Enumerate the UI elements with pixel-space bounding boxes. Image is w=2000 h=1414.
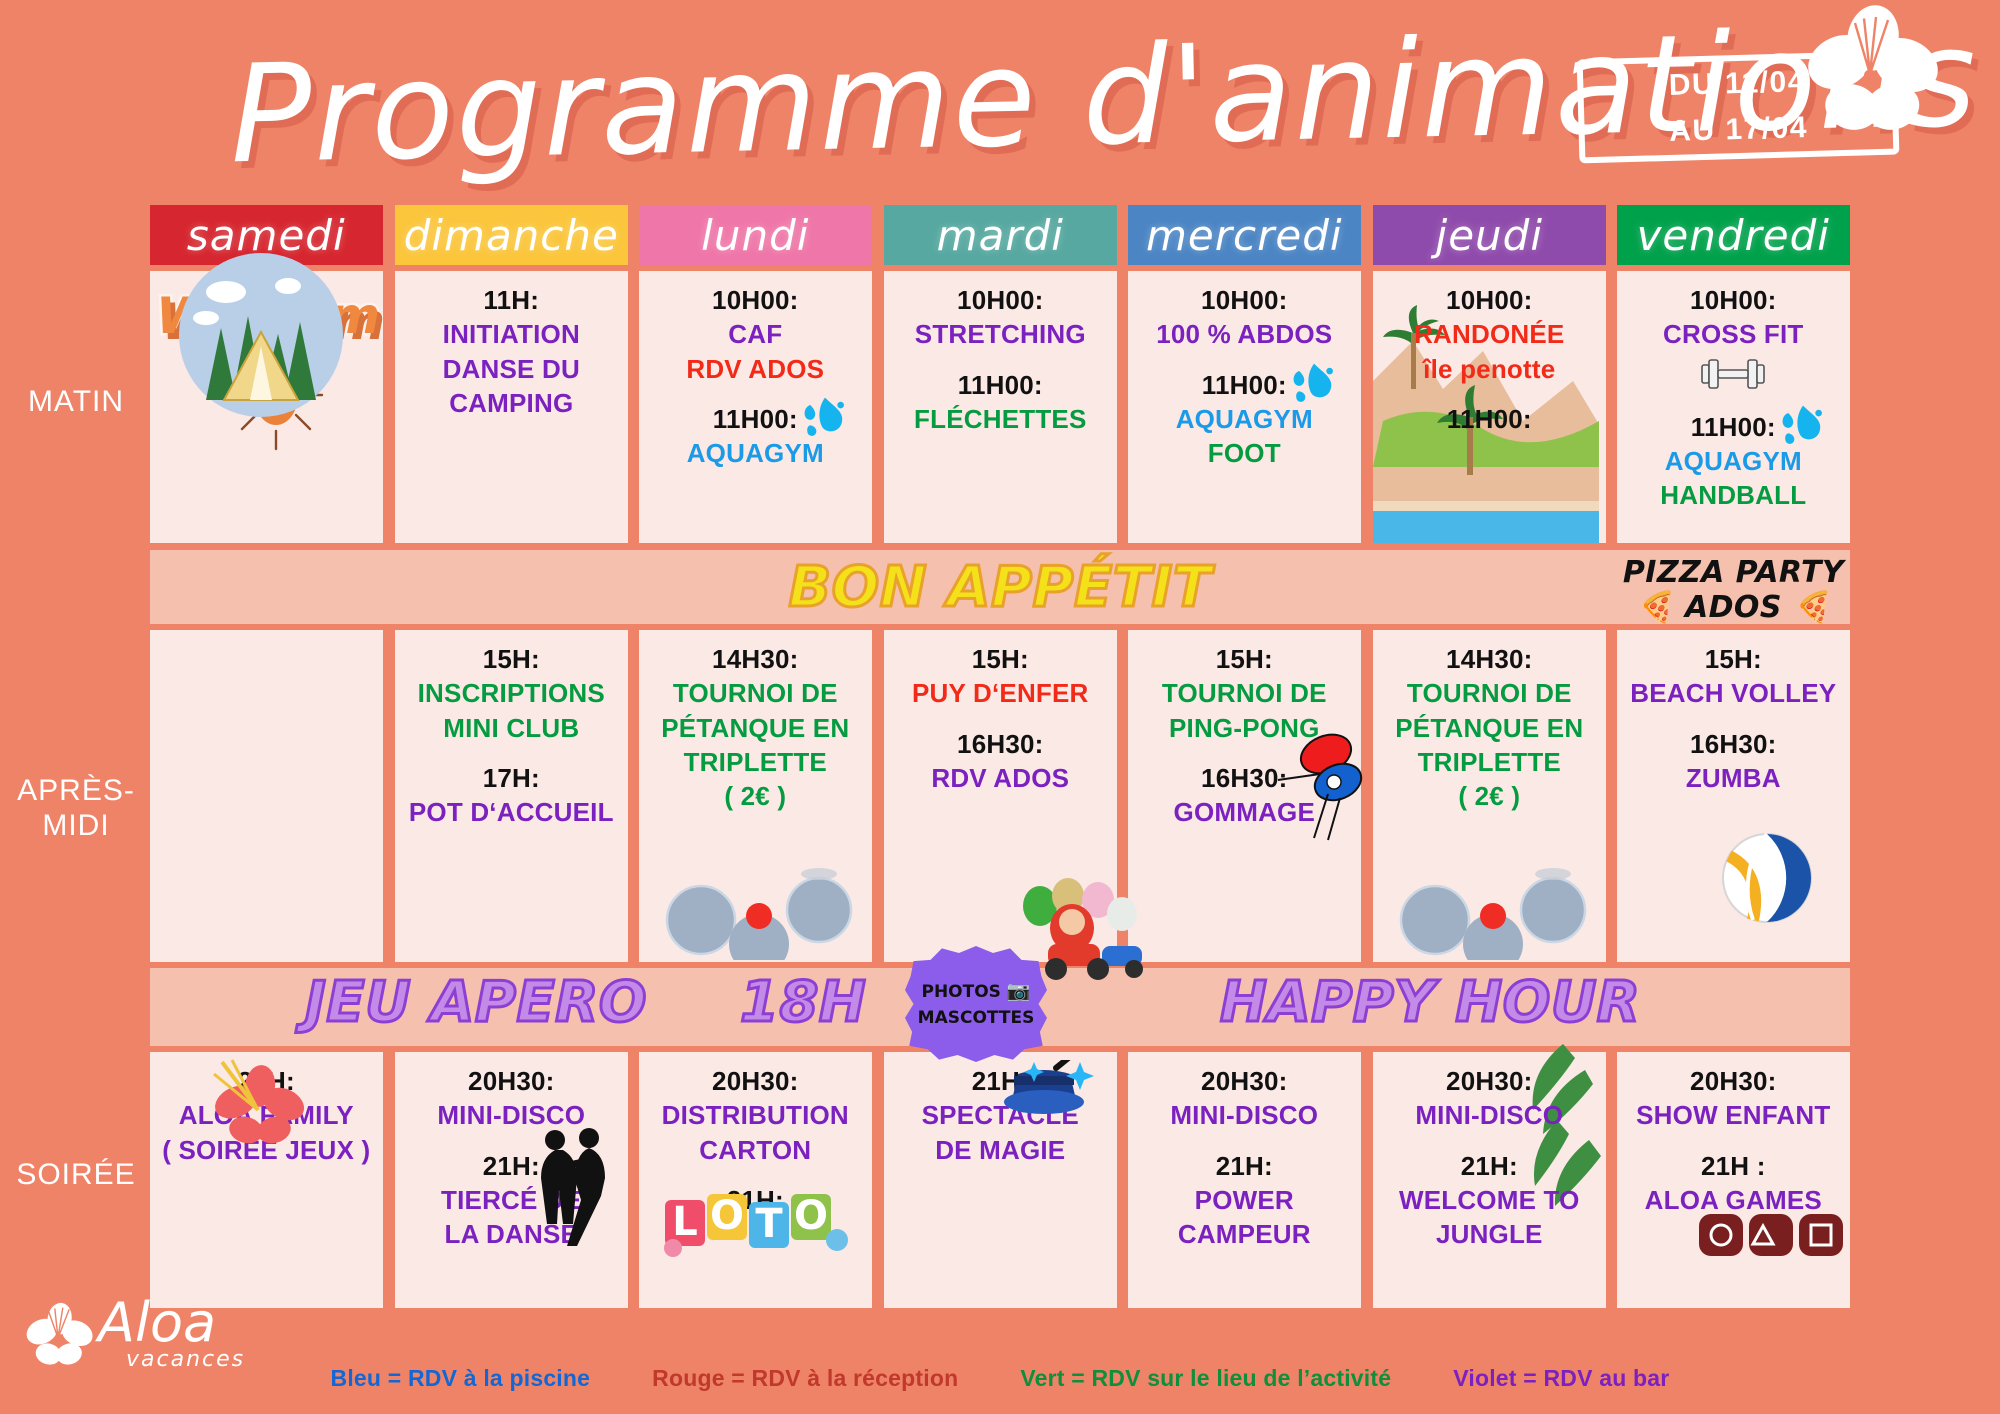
- activity-label: FOOT: [1134, 436, 1355, 470]
- activity-time: 21H:: [156, 1064, 377, 1098]
- afternoon-cell-lundi: 14H30:TOURNOI DEPÉTANQUE ENTRIPLETTE( 2€…: [639, 630, 872, 962]
- cell-content: 15H:INSCRIPTIONSMINI CLUB17H:POT D‘ACCUE…: [395, 630, 628, 836]
- legend: Bleu = RDV à la piscineRouge = RDV à la …: [0, 1365, 2000, 1392]
- activity-label: JUNGLE: [1379, 1217, 1600, 1251]
- activity-label: RANDONÉE: [1379, 317, 1600, 351]
- hibiscus-logo-icon: [18, 1293, 98, 1383]
- schedule-grid: samedidimanchelundimardimercredijeudiven…: [150, 205, 1850, 1350]
- activity-time: 10H00:: [1623, 283, 1844, 317]
- row-label-afternoon: APRÈS-MIDI: [2, 774, 150, 843]
- cell-content: 10H00:100 % ABDOS11H00:AQUAGYMFOOT: [1128, 271, 1361, 477]
- activity-label: CARTON: [645, 1133, 866, 1167]
- water-splash-icon: [1775, 402, 1831, 448]
- morning-cell-dimanche: 11H:INITIATIONDANSE DUCAMPING: [395, 271, 628, 543]
- activity-label: TOURNOI DE: [645, 676, 866, 710]
- day-header-jeudi: jeudi: [1373, 205, 1606, 265]
- activity-label: 100 % ABDOS: [1134, 317, 1355, 351]
- evening-cell-mercredi: 20H30:MINI-DISCO21H:POWERCAMPEUR: [1128, 1052, 1361, 1308]
- activity-time: 10H00:: [645, 283, 866, 317]
- activity-label: SHOW ENFANT: [1623, 1098, 1844, 1132]
- activity-label: PUY D‘ENFER: [890, 676, 1111, 710]
- photos-mascottes-badge: PHOTOS 📷MASCOTTES: [905, 946, 1047, 1062]
- activity-label: ( 2€ ): [1379, 779, 1600, 813]
- activity-time: 17H:: [401, 761, 622, 795]
- afternoon-cell-dimanche: 15H:INSCRIPTIONSMINI CLUB17H:POT D‘ACCUE…: [395, 630, 628, 962]
- activity-label: CAF: [645, 317, 866, 351]
- morning-cell-mardi: 10H00:STRETCHING11H00:FLÉCHETTES: [884, 271, 1117, 543]
- spacer: [1379, 1133, 1600, 1149]
- activity-time: 20H30:: [1134, 1064, 1355, 1098]
- activity-label: TRIPLETTE: [645, 745, 866, 779]
- activity-time: 11H00:: [1379, 402, 1600, 436]
- row-label-evening: SOIRÉE: [2, 1158, 150, 1193]
- cell-content: [150, 630, 383, 648]
- activity-time: 15H:: [1134, 642, 1355, 676]
- pizza-party-line2: 🍕 ADOS 🍕: [1623, 591, 1844, 626]
- activity-time: 14H30:: [1379, 642, 1600, 676]
- cell-content: 10H00:CROSS FIT11H00:AQUAGYMHANDBALL: [1617, 271, 1850, 519]
- afternoon-cell-vendredi: 15H:BEACH VOLLEY16H30:ZUMBA: [1617, 630, 1850, 962]
- spacer: [1623, 1133, 1844, 1149]
- cell-content: 10H00:CAFRDV ADOS11H00:AQUAGYM: [639, 271, 872, 477]
- activity-time: 20H30:: [1623, 1064, 1844, 1098]
- morning-cell-lundi: 10H00:CAFRDV ADOS11H00:AQUAGYM: [639, 271, 872, 543]
- mascottes-line1: PHOTOS 📷: [921, 977, 1030, 1006]
- activity-time: 15H:: [401, 642, 622, 676]
- activity-label: AQUAGYM: [1134, 402, 1355, 436]
- activity-label: CAMPING: [401, 386, 622, 420]
- activity-time: 10H00:: [1379, 283, 1600, 317]
- date-from: DU 11/04: [1668, 59, 1806, 109]
- activity-label: STRETCHING: [890, 317, 1111, 351]
- morning-cell-vendredi: 10H00:CROSS FIT11H00:AQUAGYMHANDBALL: [1617, 271, 1850, 543]
- brand-logo: Aloa vacances: [18, 1285, 268, 1395]
- activity-label: MINI CLUB: [401, 711, 622, 745]
- activity-label: TOURNOI DE: [1134, 676, 1355, 710]
- activity-time: 16H30:: [1623, 727, 1844, 761]
- activity-time: 11H00:: [1623, 410, 1844, 444]
- evening-cell-jeudi: 20H30:MINI-DISCO21H:WELCOME TOJUNGLE: [1373, 1052, 1606, 1308]
- spacer: [890, 352, 1111, 368]
- spacer: [890, 711, 1111, 727]
- evening-cell-mardi: 21H:SPECTACLEDE MAGIE: [884, 1052, 1117, 1308]
- cell-content: 10H00:RANDONÉEîle penotte11H00:: [1373, 271, 1606, 442]
- activity-label: SPECTACLE: [890, 1098, 1111, 1132]
- day-header-mardi: mardi: [884, 205, 1117, 265]
- activity-label: TIERCÉ DE: [401, 1183, 622, 1217]
- activity-label: DANSE DU: [401, 352, 622, 386]
- pizza-party-note: PIZZA PARTY🍕 ADOS 🍕: [1623, 556, 1844, 625]
- spacer: [1623, 711, 1844, 727]
- hibiscus-flower-icon: [1795, 5, 1945, 155]
- happy-hour-label: HAPPY HOUR: [1220, 970, 1640, 1035]
- cell-content: 14H30:TOURNOI DEPÉTANQUE ENTRIPLETTE( 2€…: [1373, 630, 1606, 820]
- activity-label: RDV ADOS: [890, 761, 1111, 795]
- cell-content: 14H30:TOURNOI DEPÉTANQUE ENTRIPLETTE( 2€…: [639, 630, 872, 820]
- day-header-vendredi: vendredi: [1617, 205, 1850, 265]
- activity-label: ( SOIRÉE JEUX ): [156, 1133, 377, 1167]
- activity-time: 15H:: [890, 642, 1111, 676]
- activity-label: POWER: [1134, 1183, 1355, 1217]
- activity-time: 21H:: [645, 1183, 866, 1217]
- legend-item-2: Vert = RDV sur le lieu de l’activité: [1020, 1365, 1391, 1392]
- basket-badge: BASKET: [1441, 467, 1554, 501]
- activity-time: 21H:: [1134, 1149, 1355, 1183]
- brand-name: Aloa: [98, 1291, 216, 1354]
- row-label-morning: MATIN: [2, 385, 150, 420]
- day-header-mercredi: mercredi: [1128, 205, 1361, 265]
- evening-cell-samedi: 21H:ALOA FAMILY( SOIRÉE JEUX ): [150, 1052, 383, 1308]
- activity-label: PÉTANQUE EN: [1379, 711, 1600, 745]
- spacer: [401, 745, 622, 761]
- morning-cell-mercredi: 10H00:100 % ABDOS11H00:AQUAGYMFOOT: [1128, 271, 1361, 543]
- activity-label: TRIPLETTE: [1379, 745, 1600, 779]
- day-header-label: vendredi: [1637, 211, 1830, 260]
- pizza-party-line1: PIZZA PARTY: [1623, 556, 1844, 591]
- activity-label: LA DANSE: [401, 1217, 622, 1251]
- spacer: [645, 1167, 866, 1183]
- cell-content: 15H:TOURNOI DEPING-PONG16H30:GOMMAGE: [1128, 630, 1361, 836]
- water-splash-icon: [797, 394, 853, 440]
- day-header-label: jeudi: [1436, 211, 1543, 260]
- activity-label: ( 2€ ): [645, 779, 866, 813]
- cell-content: 21H:SPECTACLEDE MAGIE: [884, 1052, 1117, 1173]
- activity-time: 10H00:: [1134, 283, 1355, 317]
- activity-label: AQUAGYM: [645, 436, 866, 470]
- activity-time: 10H00:: [890, 283, 1111, 317]
- activity-label: DE MAGIE: [890, 1133, 1111, 1167]
- spacer: [401, 1133, 622, 1149]
- activity-time: 11H00:: [890, 368, 1111, 402]
- camera-icon: 📷: [1007, 980, 1031, 1002]
- title-bar: Programme d'animations DU 11/04 AU 17/04: [0, 0, 2000, 200]
- day-header-label: samedi: [187, 211, 346, 260]
- activity-label: ALOA FAMILY: [156, 1098, 377, 1132]
- water-splash-icon: [1286, 360, 1342, 406]
- welcome-graphic: Welcome: [156, 283, 377, 349]
- activity-time: 20H30:: [1379, 1064, 1600, 1098]
- cell-content: 20H30:MINI-DISCO21H:TIERCÉ DELA DANSE: [395, 1052, 628, 1258]
- spacer: [1134, 745, 1355, 761]
- spacer: [1379, 386, 1600, 402]
- activity-label: POT D‘ACCUEIL: [401, 795, 622, 829]
- pizza-slice-icon: 🍕: [1793, 590, 1831, 625]
- cell-content: 15H:PUY D‘ENFER16H30:RDV ADOS: [884, 630, 1117, 801]
- evening-cell-vendredi: 20H30:SHOW ENFANT21H :ALOA GAMES: [1617, 1052, 1850, 1308]
- activity-time: 16H30:: [890, 727, 1111, 761]
- afternoon-cell-jeudi: 14H30:TOURNOI DEPÉTANQUE ENTRIPLETTE( 2€…: [1373, 630, 1606, 962]
- afternoon-cell-samedi: [150, 630, 383, 962]
- activity-label: ALOA GAMES: [1623, 1183, 1844, 1217]
- afternoon-cell-mardi: 15H:PUY D‘ENFER16H30:RDV ADOS: [884, 630, 1117, 962]
- dumbbell-icon: [1623, 354, 1844, 394]
- activity-time: 21H:: [1379, 1149, 1600, 1183]
- activity-label: HANDBALL: [1623, 478, 1844, 512]
- cell-content: 21H:ALOA FAMILY( SOIRÉE JEUX ): [150, 1052, 383, 1173]
- date-to: AU 17/04: [1669, 105, 1809, 155]
- activity-time: 16H30:: [1134, 761, 1355, 795]
- activity-label: DISTRIBUTION: [645, 1098, 866, 1132]
- activity-label: INITIATION: [401, 317, 622, 351]
- activity-label: MINI-DISCO: [1134, 1098, 1355, 1132]
- day-header-label: lundi: [701, 211, 809, 260]
- activity-time: 14H30:: [645, 642, 866, 676]
- day-header-lundi: lundi: [639, 205, 872, 265]
- activity-time: 20H30:: [401, 1064, 622, 1098]
- apero-time-label: 18H: [740, 970, 866, 1035]
- day-header-label: mercredi: [1146, 211, 1343, 260]
- day-header-samedi: samedi: [150, 205, 383, 265]
- activity-label: CAMPEUR: [1134, 1217, 1355, 1251]
- activity-time: 21H:: [890, 1064, 1111, 1098]
- spacer: [1134, 1133, 1355, 1149]
- activity-time: 11H00:: [1134, 368, 1355, 402]
- cell-content: 20H30:SHOW ENFANT21H :ALOA GAMES: [1617, 1052, 1850, 1223]
- activity-label: île penotte: [1379, 352, 1600, 386]
- lunch-band: BON APPÉTITPIZZA PARTY🍕 ADOS 🍕: [150, 550, 1850, 624]
- cell-content: 20H30:DISTRIBUTIONCARTON21H:: [639, 1052, 872, 1223]
- activity-time: 20H30:: [645, 1064, 866, 1098]
- activity-label: MINI-DISCO: [401, 1098, 622, 1132]
- day-header-label: dimanche: [404, 211, 619, 260]
- morning-cell-samedi: Welcome: [150, 271, 383, 543]
- activity-time: 11H00:: [645, 402, 866, 436]
- pizza-slice-icon: 🍕: [1636, 590, 1674, 625]
- evening-cell-lundi: 20H30:DISTRIBUTIONCARTON21H:: [639, 1052, 872, 1308]
- activity-label: CROSS FIT: [1623, 317, 1844, 351]
- legend-item-1: Rouge = RDV à la réception: [652, 1365, 958, 1392]
- activity-label: AQUAGYM: [1623, 444, 1844, 478]
- cell-content: 11H:INITIATIONDANSE DUCAMPING: [395, 271, 628, 426]
- activity-label: PING-PONG: [1134, 711, 1355, 745]
- cell-content: 15H:BEACH VOLLEY16H30:ZUMBA: [1617, 630, 1850, 801]
- activity-label: FLÉCHETTES: [890, 402, 1111, 436]
- activity-label: BEACH VOLLEY: [1623, 676, 1844, 710]
- activity-label: GOMMAGE: [1134, 795, 1355, 829]
- activity-label: WELCOME TO: [1379, 1183, 1600, 1217]
- evening-cell-dimanche: 20H30:MINI-DISCO21H:TIERCÉ DELA DANSE: [395, 1052, 628, 1308]
- activity-label: MINI-DISCO: [1379, 1098, 1600, 1132]
- cell-content: 10H00:STRETCHING11H00:FLÉCHETTES: [884, 271, 1117, 442]
- cell-content: 20H30:MINI-DISCO21H:WELCOME TOJUNGLE: [1373, 1052, 1606, 1258]
- activity-time: 15H:: [1623, 642, 1844, 676]
- cell-content: Welcome: [150, 271, 383, 355]
- day-header-label: mardi: [937, 211, 1064, 260]
- morning-cell-jeudi: 10H00:RANDONÉEîle penotte11H00:BASKET: [1373, 271, 1606, 543]
- activity-label: TOURNOI DE: [1379, 676, 1600, 710]
- brand-sub: vacances: [126, 1347, 245, 1372]
- activity-label: ZUMBA: [1623, 761, 1844, 795]
- activity-time: 11H:: [401, 283, 622, 317]
- day-header-dimanche: dimanche: [395, 205, 628, 265]
- cell-content: 20H30:MINI-DISCO21H:POWERCAMPEUR: [1128, 1052, 1361, 1258]
- activity-time: 21H:: [401, 1149, 622, 1183]
- afternoon-cell-mercredi: 15H:TOURNOI DEPING-PONG16H30:GOMMAGE: [1128, 630, 1361, 962]
- activity-label: RDV ADOS: [645, 352, 866, 386]
- activity-time: 21H :: [1623, 1149, 1844, 1183]
- apero-band-label: JEU APERO: [305, 970, 647, 1035]
- mascottes-line2: MASCOTTES: [918, 1006, 1035, 1032]
- activity-label: PÉTANQUE EN: [645, 711, 866, 745]
- legend-item-0: Bleu = RDV à la piscine: [331, 1365, 591, 1392]
- lunch-band-label: BON APPÉTIT: [788, 555, 1211, 620]
- legend-item-3: Violet = RDV au bar: [1453, 1365, 1669, 1392]
- activity-label: INSCRIPTIONS: [401, 676, 622, 710]
